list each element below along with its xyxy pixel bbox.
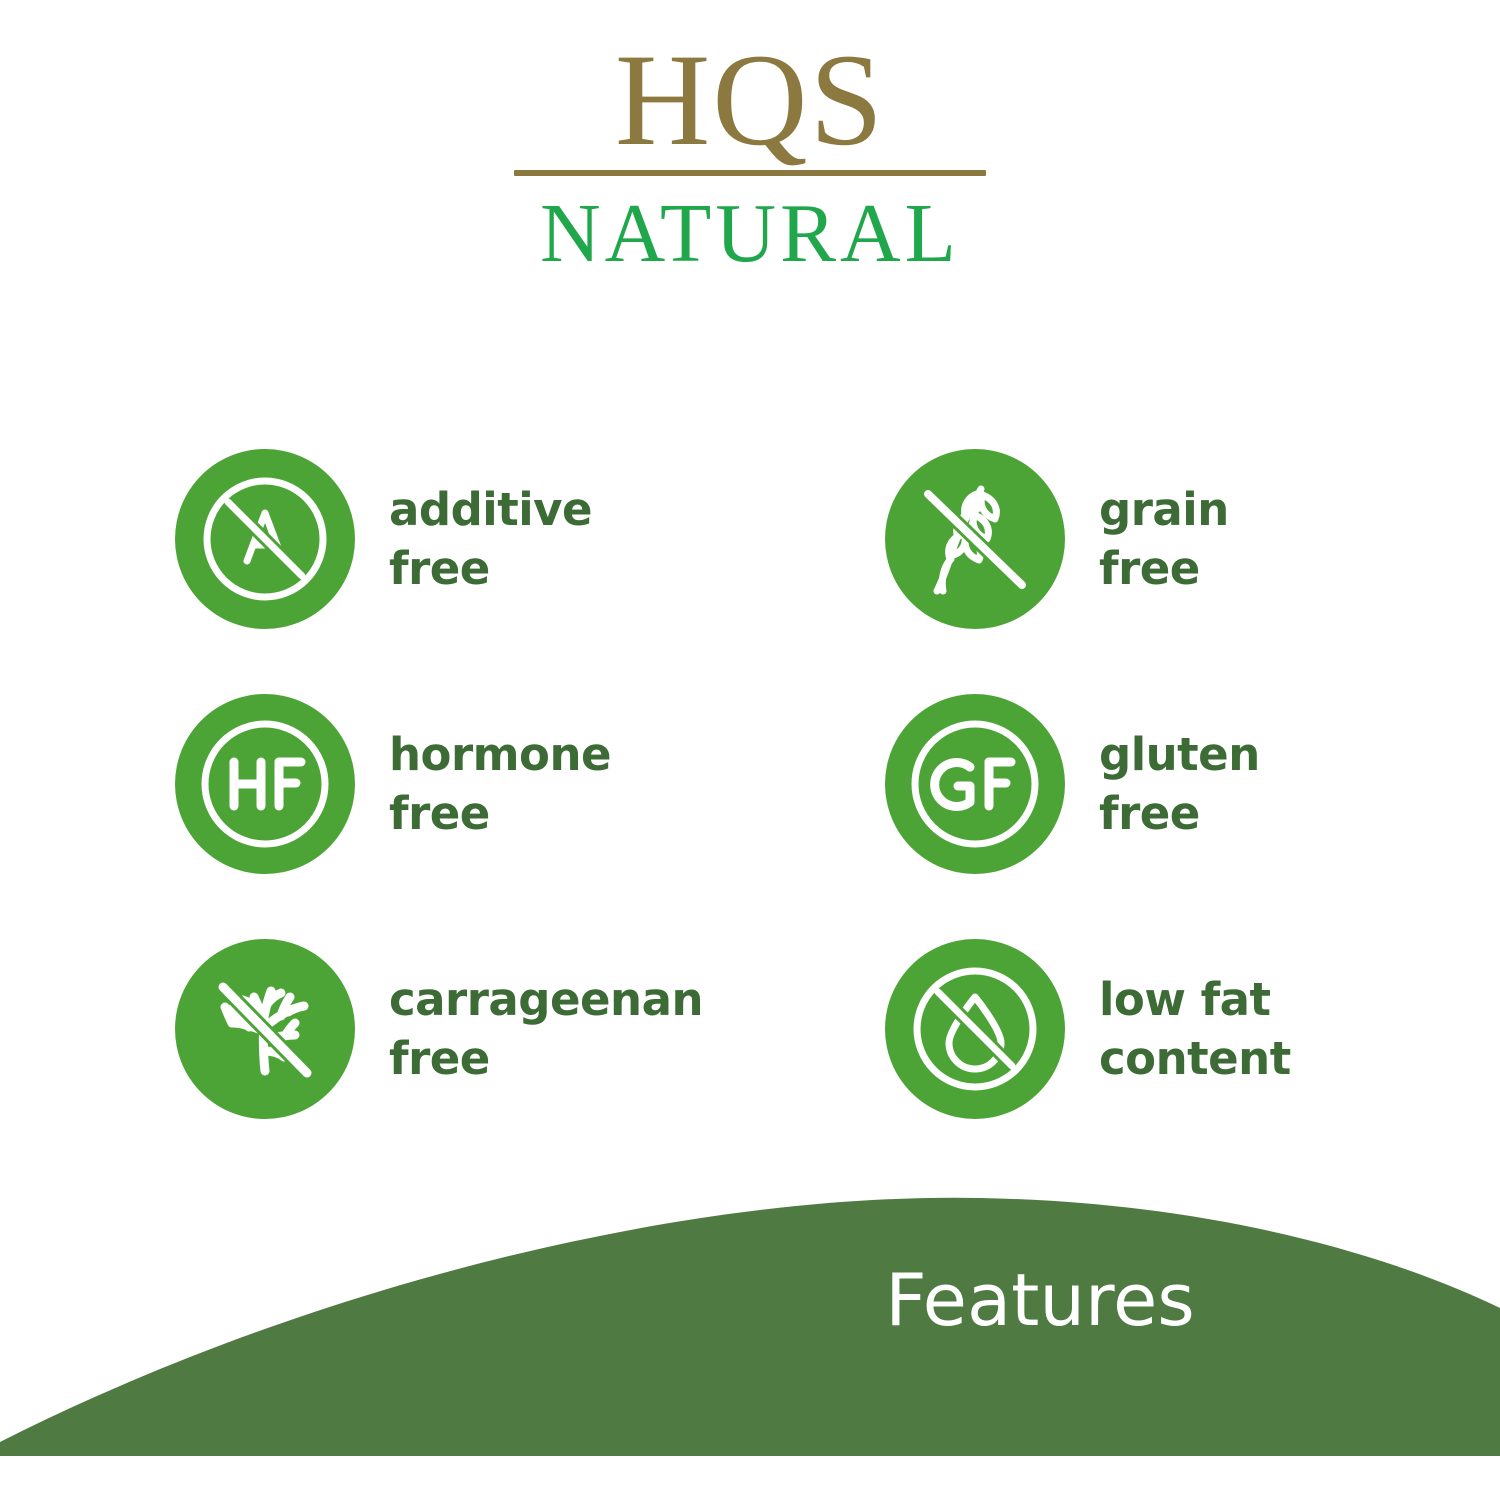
feature-item-hormone-free: hormone free [175,664,885,904]
feature-item-carrageenan-free: carrageenan free [175,904,885,1154]
features-grid: additive free [0,414,1500,1154]
feature-label-hormone-free: hormone free [389,725,611,844]
banner-title: Features [0,1258,1500,1342]
feature-item-grain-free: grain free [885,414,1500,664]
feature-item-low-fat-content: low fat content [885,904,1500,1154]
feature-label-low-fat-content: low fat content [1099,970,1291,1089]
feature-label-additive-free: additive free [389,480,592,599]
no-fat-droplet-icon [885,939,1065,1119]
brand-name: HQS [0,34,1500,166]
feature-label-gluten-free: gluten free [1099,725,1260,844]
brand-logo: HQS NATURAL [0,34,1500,278]
feature-label-grain-free: grain free [1099,480,1229,599]
brand-tagline: NATURAL [0,190,1500,278]
gluten-free-gf-icon [885,694,1065,874]
no-wheat-icon [885,449,1065,629]
feature-item-additive-free: additive free [175,414,885,664]
feature-label-carrageenan-free: carrageenan free [389,970,703,1089]
features-infographic-page: HQS NATURAL [0,0,1500,1500]
no-additive-a-icon [175,449,355,629]
features-banner: Features [0,1180,1500,1500]
hormone-free-hf-icon [175,694,355,874]
no-seaweed-icon [175,939,355,1119]
feature-item-gluten-free: gluten free [885,664,1500,904]
